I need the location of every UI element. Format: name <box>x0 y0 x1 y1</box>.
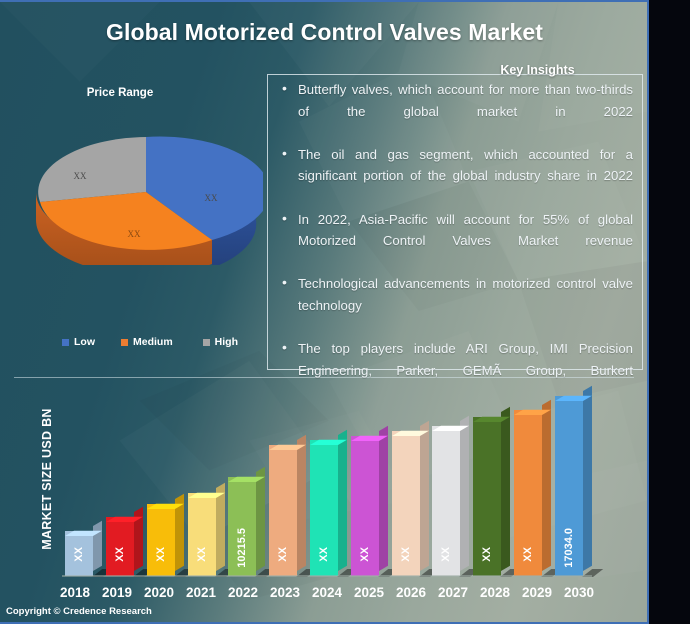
bar-2023[interactable]: XX <box>269 445 297 576</box>
bar-2029[interactable]: XX <box>514 410 542 576</box>
key-insights-heading: Key Insights <box>430 63 645 77</box>
bar-category-label-2024: 2024 <box>306 585 348 603</box>
bar-chart-category-labels: 2018201920202021202220232024202520262027… <box>54 585 600 603</box>
bar-category-label-2023: 2023 <box>264 585 306 603</box>
bar-value-label: XX <box>392 547 420 562</box>
bar-chart-plot-area: XXXXXXXX10215.5XXXXXXXXXXXXXX17034.0 <box>62 390 592 576</box>
insight-text: The top players include ARI Group, IMI P… <box>298 341 633 378</box>
bar-category-label-2027: 2027 <box>432 585 474 603</box>
pie-label-high: XX <box>74 171 87 181</box>
bar-front-face <box>188 493 216 576</box>
bar-chart-y-axis-label: MARKET SIZE USD BN <box>40 399 54 559</box>
bar-chart-baseline <box>62 575 592 577</box>
legend-swatch-low <box>62 339 69 346</box>
bar-side-face <box>297 435 306 571</box>
bar-value-label: XX <box>432 547 460 562</box>
list-item: In 2022, Asia-Pacific will account for 5… <box>276 209 633 274</box>
bar-value-label: XX <box>147 547 175 562</box>
insight-text: Technological advancements in motorized … <box>298 276 633 313</box>
key-insights-box: Butterfly valves, which account for more… <box>267 74 643 370</box>
pie-label-low: XX <box>205 193 218 203</box>
bar-2021[interactable]: XX <box>188 493 216 576</box>
key-insights-list: Butterfly valves, which account for more… <box>276 79 633 403</box>
bar-side-face <box>338 430 347 571</box>
bar-side-face <box>93 521 102 571</box>
bar-2022[interactable]: 10215.5 <box>228 477 256 576</box>
bar-value-label: 10215.5 <box>228 528 256 568</box>
pie-chart-legend: Low Medium High <box>62 334 277 350</box>
bar-2030[interactable]: 17034.0 <box>555 396 583 576</box>
insight-text: In 2022, Asia-Pacific will account for 5… <box>298 212 633 249</box>
list-item: The oil and gas segment, which accounted… <box>276 144 633 209</box>
legend-label-high: High <box>215 336 238 348</box>
bar-category-label-2020: 2020 <box>138 585 180 603</box>
copyright-notice: Copyright © Credence Research <box>6 606 152 617</box>
bar-category-label-2026: 2026 <box>390 585 432 603</box>
infographic-canvas: Global Motorized Control Valves Market P… <box>0 0 649 624</box>
pie-chart: XX XX XX <box>28 120 263 265</box>
legend-swatch-high <box>203 339 210 346</box>
bar-category-label-2025: 2025 <box>348 585 390 603</box>
bar-side-face <box>542 400 551 571</box>
bar-category-label-2028: 2028 <box>474 585 516 603</box>
bar-side-face <box>501 407 510 571</box>
bar-2024[interactable]: XX <box>310 440 338 576</box>
bar-value-label: XX <box>310 547 338 562</box>
list-item: The top players include ARI Group, IMI P… <box>276 338 633 403</box>
bar-value-label: XX <box>188 547 216 562</box>
list-item: Butterfly valves, which account for more… <box>276 79 633 144</box>
page-title: Global Motorized Control Valves Market <box>0 19 649 46</box>
legend-swatch-medium <box>121 339 128 346</box>
bar-value-label: XX <box>514 547 542 562</box>
bar-2025[interactable]: XX <box>351 436 379 576</box>
bar-value-label: XX <box>351 547 379 562</box>
bar-value-label: XX <box>106 547 134 562</box>
bar-value-label: XX <box>269 547 297 562</box>
bar-category-label-2021: 2021 <box>180 585 222 603</box>
bar-value-label: 17034.0 <box>555 528 583 568</box>
bar-category-label-2030: 2030 <box>558 585 600 603</box>
bar-category-label-2019: 2019 <box>96 585 138 603</box>
pie-slice-high <box>38 137 146 202</box>
legend-label-low: Low <box>74 336 95 348</box>
bar-side-face <box>420 421 429 571</box>
bar-side-face <box>583 386 592 571</box>
bar-front-face <box>147 504 175 576</box>
bar-2019[interactable]: XX <box>106 517 134 576</box>
bar-side-face <box>256 467 265 571</box>
insight-text: Butterfly valves, which account for more… <box>298 82 633 119</box>
bar-2020[interactable]: XX <box>147 504 175 576</box>
bar-category-label-2022: 2022 <box>222 585 264 603</box>
legend-item-medium[interactable]: Medium <box>121 336 173 348</box>
legend-label-medium: Medium <box>133 336 173 348</box>
list-item: Technological advancements in motorized … <box>276 273 633 338</box>
bar-value-label: XX <box>65 547 93 562</box>
legend-item-low[interactable]: Low <box>62 336 95 348</box>
pie-chart-title: Price Range <box>30 87 210 99</box>
pie-label-medium: XX <box>128 229 141 239</box>
bar-2028[interactable]: XX <box>473 417 501 576</box>
bar-2018[interactable]: XX <box>65 531 93 576</box>
bar-side-face <box>460 416 469 571</box>
bar-2027[interactable]: XX <box>432 426 460 576</box>
legend-item-high[interactable]: High <box>203 336 238 348</box>
bar-2026[interactable]: XX <box>392 431 420 576</box>
bar-category-label-2029: 2029 <box>516 585 558 603</box>
bar-side-face <box>379 426 388 571</box>
bar-category-label-2018: 2018 <box>54 585 96 603</box>
insight-text: The oil and gas segment, which accounted… <box>298 147 633 184</box>
bar-value-label: XX <box>473 547 501 562</box>
